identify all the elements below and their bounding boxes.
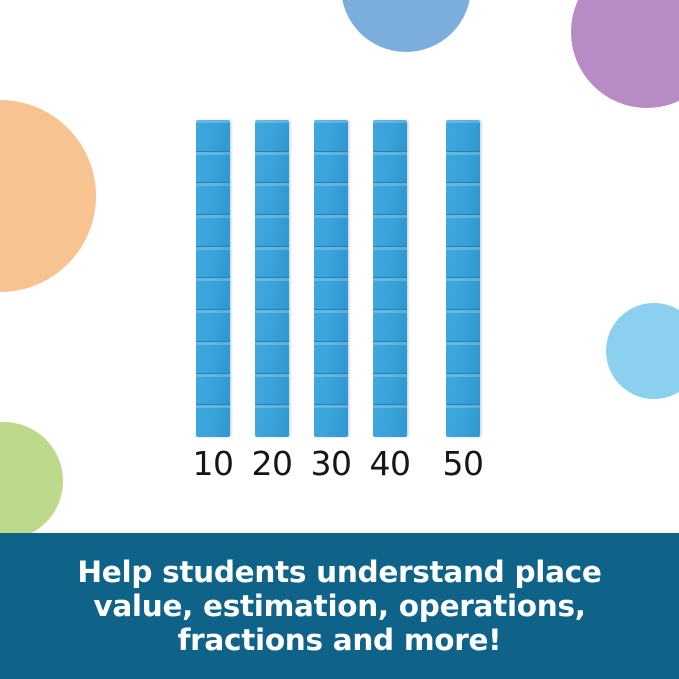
unit-cube: [255, 120, 289, 152]
rod-label-40: 40: [350, 447, 430, 480]
banner-line-1: Help students understand place: [40, 555, 640, 589]
banner-text-block: Help students understand placevalue, est…: [40, 555, 640, 657]
unit-cube: [196, 183, 230, 215]
unit-cube: [196, 405, 230, 437]
unit-cube: [196, 342, 230, 374]
unit-cube: [373, 405, 407, 437]
unit-cube: [255, 405, 289, 437]
unit-cube: [446, 152, 480, 184]
rod-column-40: [373, 120, 407, 437]
unit-cube: [373, 342, 407, 374]
unit-cube: [314, 120, 348, 152]
unit-cube: [255, 374, 289, 406]
base-ten-rods-diagram: 1020304050: [0, 0, 679, 533]
unit-cube: [446, 310, 480, 342]
rod-label-50: 50: [423, 447, 503, 480]
unit-cube: [446, 405, 480, 437]
promo-graphic: 1020304050 Help students understand plac…: [0, 0, 679, 679]
unit-cube: [196, 215, 230, 247]
unit-cube: [373, 278, 407, 310]
unit-cube: [314, 342, 348, 374]
unit-cube: [446, 374, 480, 406]
unit-cube: [196, 247, 230, 279]
unit-cube: [255, 278, 289, 310]
unit-cube: [196, 310, 230, 342]
unit-cube: [373, 247, 407, 279]
unit-cube: [373, 183, 407, 215]
unit-cube: [446, 120, 480, 152]
unit-cube: [446, 342, 480, 374]
unit-cube: [255, 342, 289, 374]
unit-cube: [314, 405, 348, 437]
banner-line-3: fractions and more!: [40, 623, 640, 657]
unit-cube: [196, 152, 230, 184]
unit-cube: [255, 183, 289, 215]
unit-cube: [373, 374, 407, 406]
banner-line-2: value, estimation, operations,: [40, 589, 640, 623]
unit-cube: [255, 215, 289, 247]
unit-cube: [255, 310, 289, 342]
unit-cube: [255, 152, 289, 184]
unit-cube: [196, 278, 230, 310]
unit-cube: [446, 278, 480, 310]
unit-cube: [196, 120, 230, 152]
unit-cube: [373, 310, 407, 342]
unit-cube: [446, 247, 480, 279]
unit-cube: [314, 152, 348, 184]
unit-cube: [446, 183, 480, 215]
unit-cube: [446, 215, 480, 247]
unit-cube: [373, 215, 407, 247]
unit-cube: [314, 278, 348, 310]
unit-cube: [255, 247, 289, 279]
unit-cube: [373, 120, 407, 152]
unit-cube: [314, 374, 348, 406]
rod-column-10: [196, 120, 230, 437]
rod-column-20: [255, 120, 289, 437]
unit-cube: [196, 374, 230, 406]
unit-cube: [314, 247, 348, 279]
message-banner: Help students understand placevalue, est…: [0, 533, 679, 679]
unit-cube: [314, 183, 348, 215]
rod-column-50: [446, 120, 480, 437]
rod-column-30: [314, 120, 348, 437]
unit-cube: [314, 310, 348, 342]
unit-cube: [314, 215, 348, 247]
unit-cube: [373, 152, 407, 184]
